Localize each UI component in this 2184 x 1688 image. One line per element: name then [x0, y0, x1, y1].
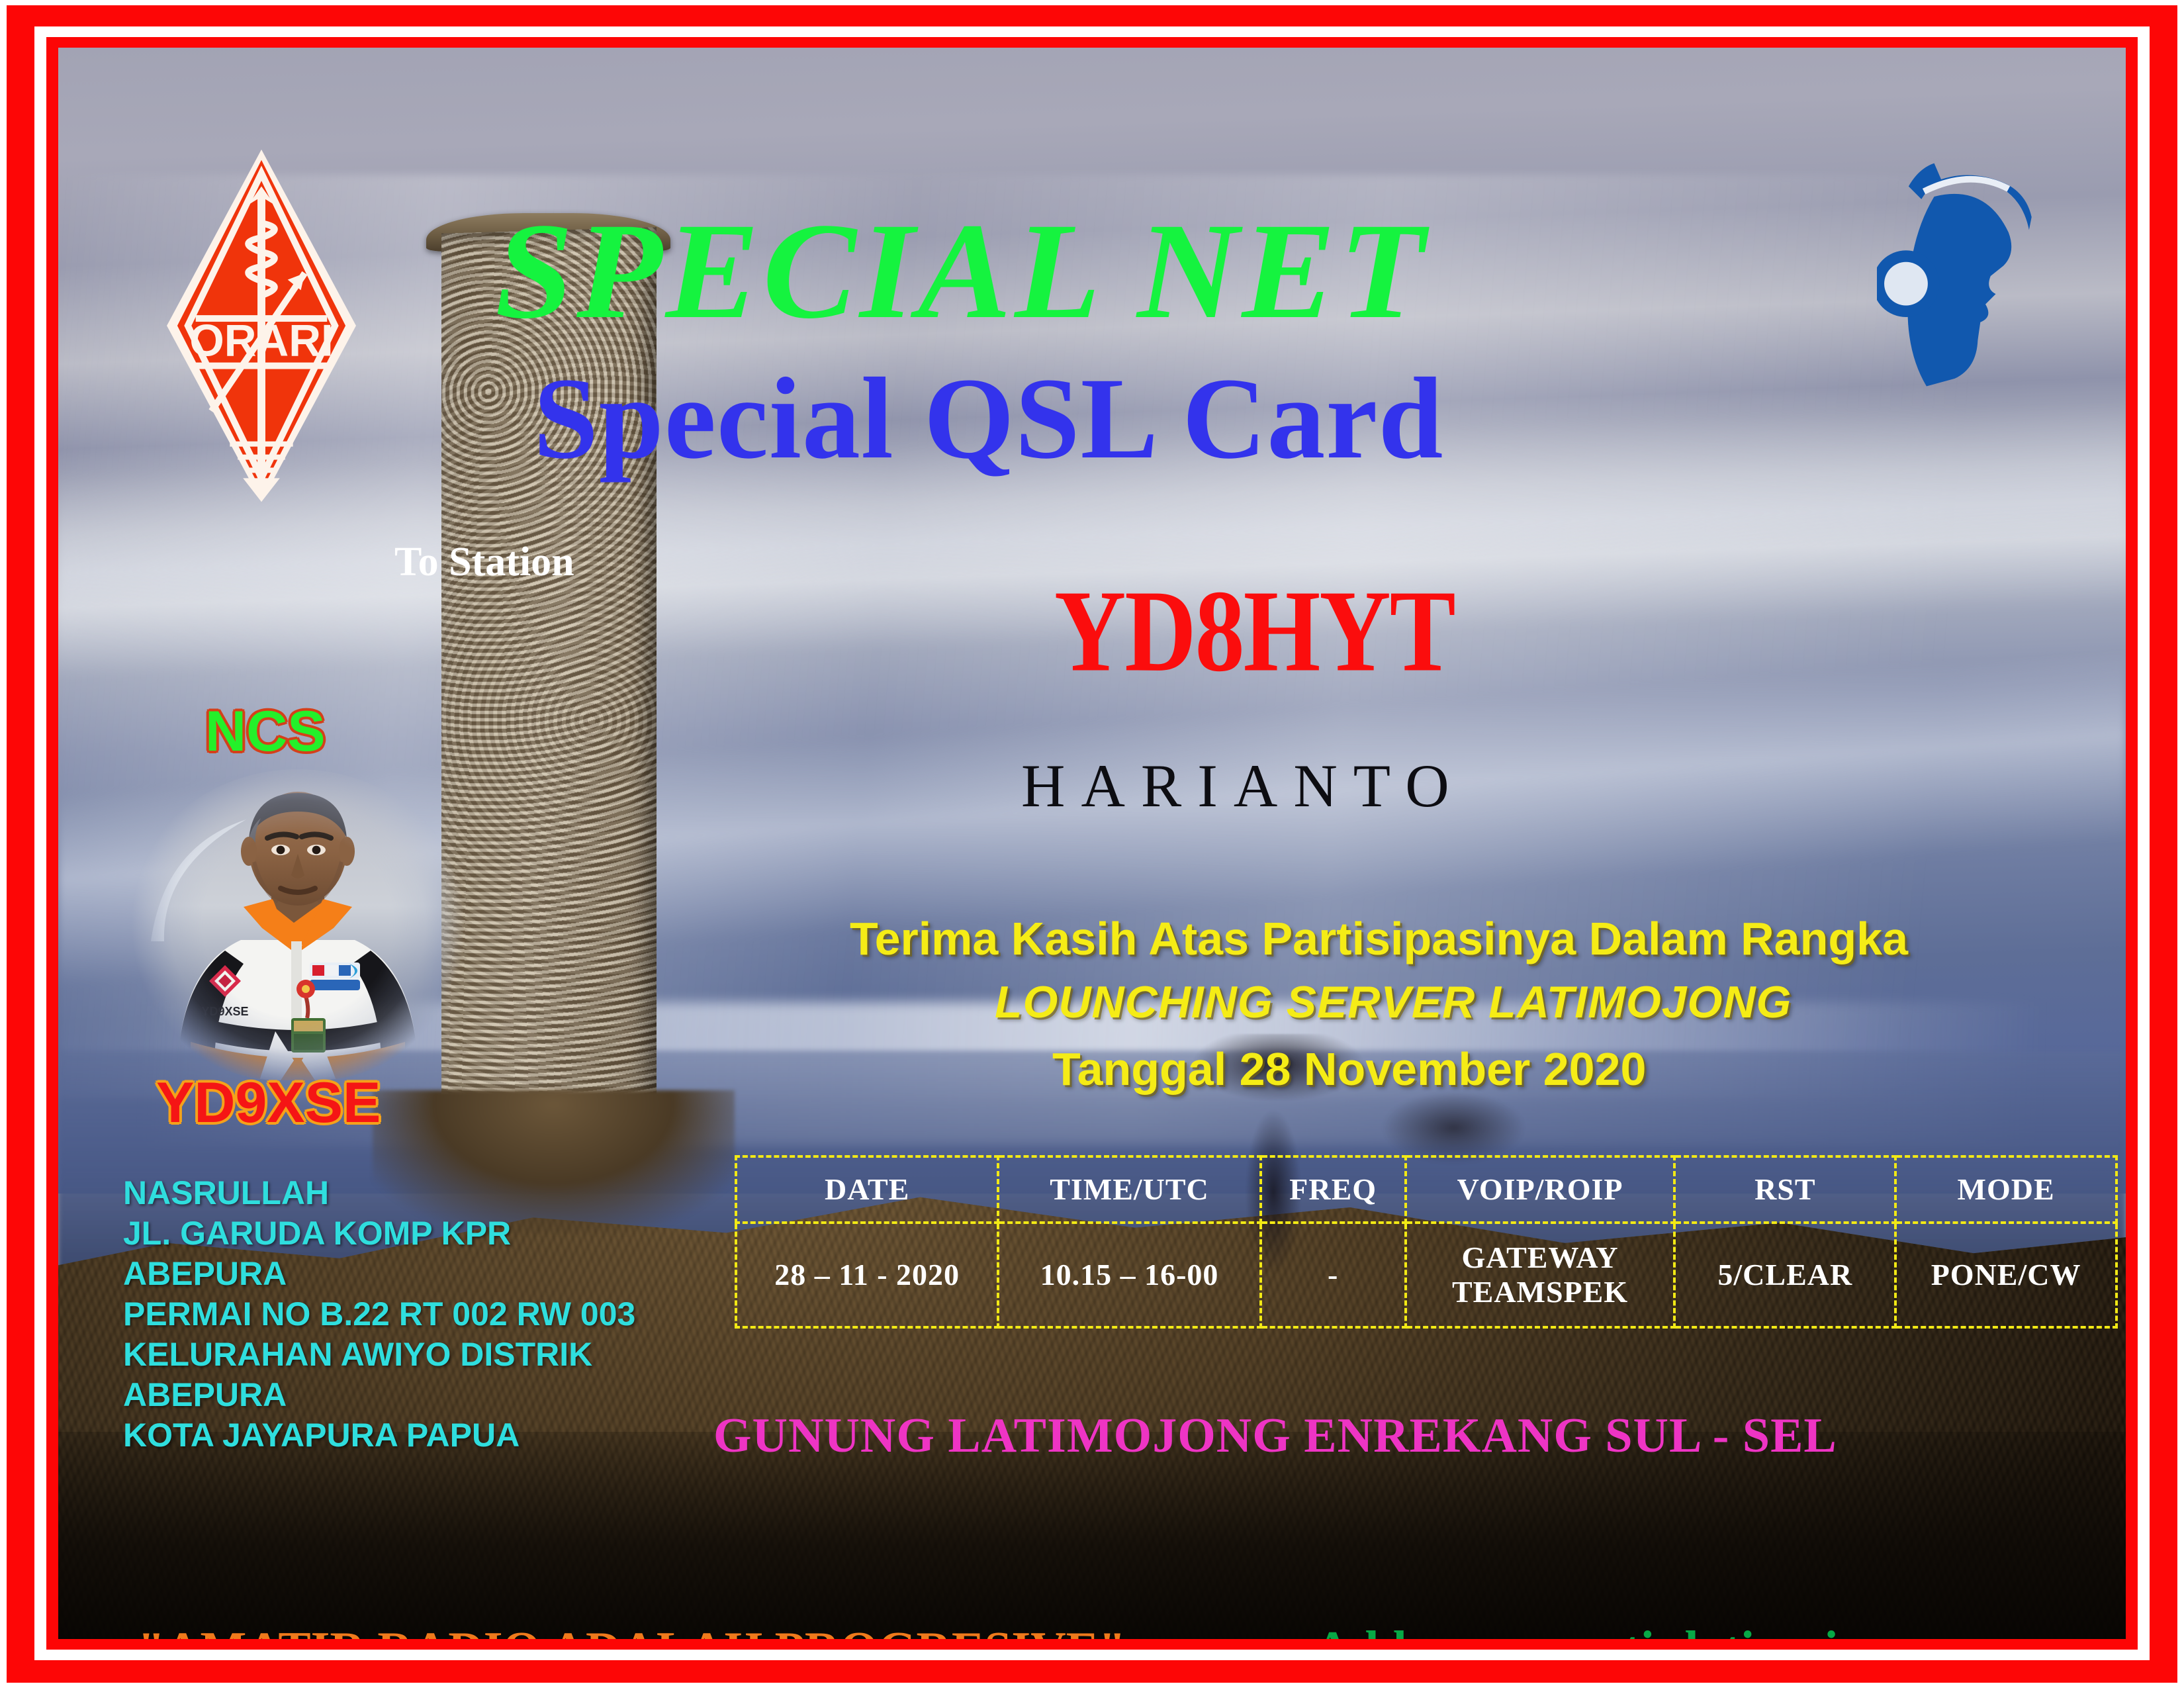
cell-time: 10.15 – 16-00 — [998, 1223, 1260, 1327]
column-header-time: TIME/UTC — [998, 1156, 1260, 1223]
table-header-row: DATE TIME/UTC FREQ VOIP/ROIP RST MODE — [736, 1156, 2116, 1223]
location-line: GUNUNG LATIMOJONG ENREKANG SUL - SEL — [713, 1408, 1837, 1464]
orari-logo-text: ORARI — [189, 316, 334, 366]
address-line: KELURAHAN AWIYO DISTRIK — [123, 1335, 705, 1375]
ncs-address-block: NASRULLAH JL. GARUDA KOMP KPR ABEPURA PE… — [123, 1173, 705, 1456]
thanks-line-1: Terima Kasih Atas Partisipasinya Dalam R… — [850, 912, 1908, 965]
qsl-card: ORARI — [0, 0, 2184, 1688]
table-header: DATE TIME/UTC FREQ VOIP/ROIP RST MODE — [736, 1156, 2116, 1223]
motto-text: "AMATIR RADIO ADALAH PROGRESIVE" — [138, 1622, 1126, 1639]
orari-diamond-icon: ORARI — [155, 142, 368, 510]
cell-voip-line1: GATEWAY — [1462, 1241, 1619, 1274]
cell-rst: 5/CLEAR — [1674, 1223, 1895, 1327]
background-photo-stage: ORARI — [58, 48, 2126, 1639]
ncs-operator-avatar: YD9XSE — [132, 769, 463, 1080]
headset-profile-radio-icon — [1877, 135, 2126, 417]
page-title: SPECIAL NET — [495, 192, 1428, 350]
cell-voip-line2: TEAMSPEK — [1452, 1275, 1628, 1309]
table-row: 28 – 11 - 2020 10.15 – 16-00 - GATEWAY T… — [736, 1223, 2116, 1327]
ncs-callsign: YD9XSE — [156, 1070, 381, 1136]
qso-log-table: DATE TIME/UTC FREQ VOIP/ROIP RST MODE 28… — [735, 1155, 2118, 1329]
cell-voip: GATEWAY TEAMSPEK — [1406, 1223, 1675, 1327]
cell-date: 28 – 11 - 2020 — [736, 1223, 998, 1327]
operator-name: HARIANTO — [1021, 751, 1465, 821]
to-station-label: To Station — [394, 539, 574, 586]
uniform-callsign-text: YD9XSE — [201, 1005, 248, 1018]
event-date: Tanggal 28 November 2020 — [1052, 1043, 1646, 1096]
footer-web-address: Address : amatir.latimojong.com — [1314, 1620, 2019, 1639]
ncs-role-label: NCS — [205, 699, 326, 765]
table-body: 28 – 11 - 2020 10.15 – 16-00 - GATEWAY T… — [736, 1223, 2116, 1327]
station-callsign: YD8HYT — [1054, 564, 1455, 698]
cell-freq: - — [1261, 1223, 1406, 1327]
address-line: ABEPURA — [123, 1375, 705, 1415]
column-header-mode: MODE — [1895, 1156, 2116, 1223]
column-header-voip: VOIP/ROIP — [1406, 1156, 1675, 1223]
address-line: KOTA JAYAPURA PAPUA — [123, 1415, 705, 1456]
cell-mode: PONE/CW — [1895, 1223, 2116, 1327]
column-header-freq: FREQ — [1261, 1156, 1406, 1223]
column-header-date: DATE — [736, 1156, 998, 1223]
address-line: ABEPURA — [123, 1254, 705, 1294]
address-line: PERMAI NO B.22 RT 002 RW 003 — [123, 1294, 705, 1335]
address-line: NASRULLAH — [123, 1173, 705, 1213]
page-subtitle: Special QSL Card — [533, 352, 1443, 486]
address-line: JL. GARUDA KOMP KPR — [123, 1213, 705, 1254]
event-title: LOUNCHING SERVER LATIMOJONG — [995, 976, 1792, 1028]
column-header-rst: RST — [1674, 1156, 1895, 1223]
